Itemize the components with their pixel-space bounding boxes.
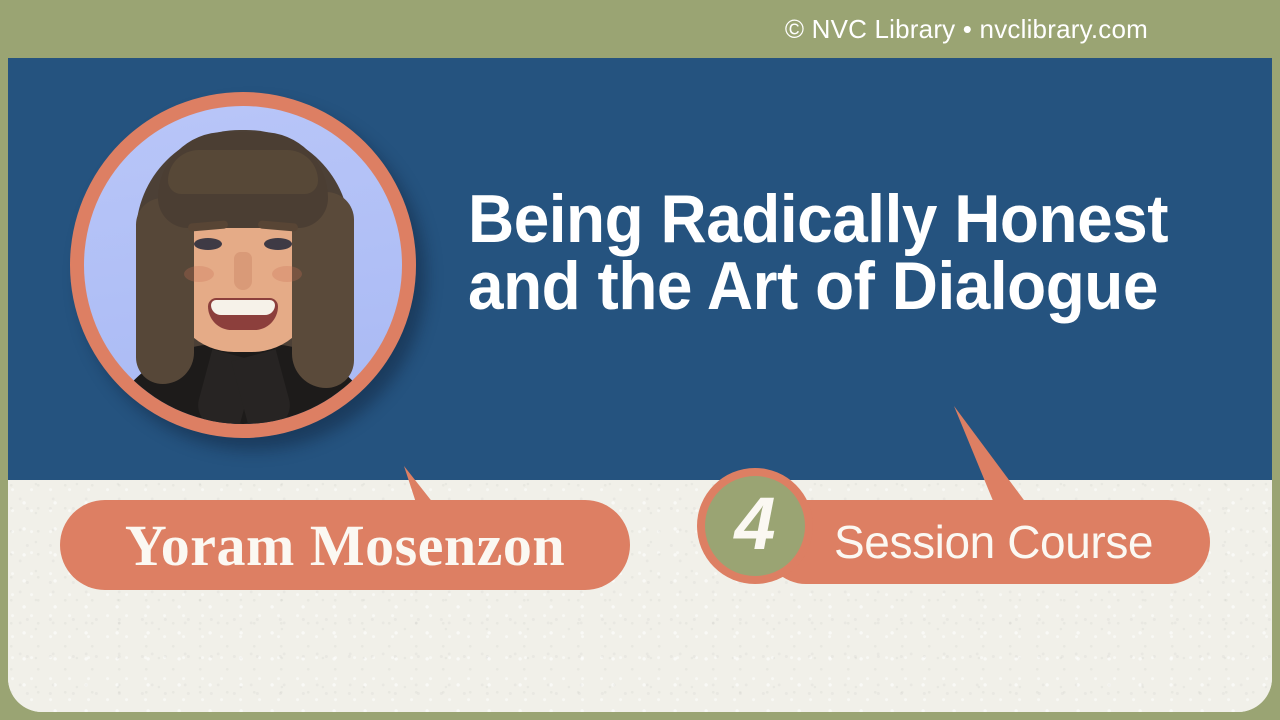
session-count-badge: 4 <box>697 468 813 584</box>
course-promo-card: © NVC Library • nvclibrary.com <box>0 0 1280 720</box>
speaker-name-badge: Yoram Mosenzon <box>60 500 630 590</box>
portrait-eye-right <box>264 238 292 250</box>
session-count-badge-inner: 4 <box>705 476 805 576</box>
copyright-text: © NVC Library • nvclibrary.com <box>785 14 1148 45</box>
portrait-teeth <box>211 300 275 315</box>
portrait-photo <box>84 106 402 424</box>
speaker-portrait <box>70 92 416 438</box>
session-count-value: 4 <box>734 487 775 561</box>
portrait-hair-fringe <box>168 150 318 194</box>
session-course-badge: Session Course <box>764 500 1210 584</box>
portrait-cheek-left <box>184 266 214 282</box>
session-course-label: Session Course <box>764 515 1153 569</box>
portrait-mouth <box>208 298 278 330</box>
page-title: Being Radically Honest and the Art of Di… <box>468 186 1192 319</box>
portrait-cheek-right <box>272 266 302 282</box>
portrait-eye-left <box>194 238 222 250</box>
speaker-name-label: Yoram Mosenzon <box>125 512 565 579</box>
portrait-nose <box>234 252 252 290</box>
copyright-bar: © NVC Library • nvclibrary.com <box>0 0 1280 58</box>
content-card: Being Radically Honest and the Art of Di… <box>8 58 1272 712</box>
